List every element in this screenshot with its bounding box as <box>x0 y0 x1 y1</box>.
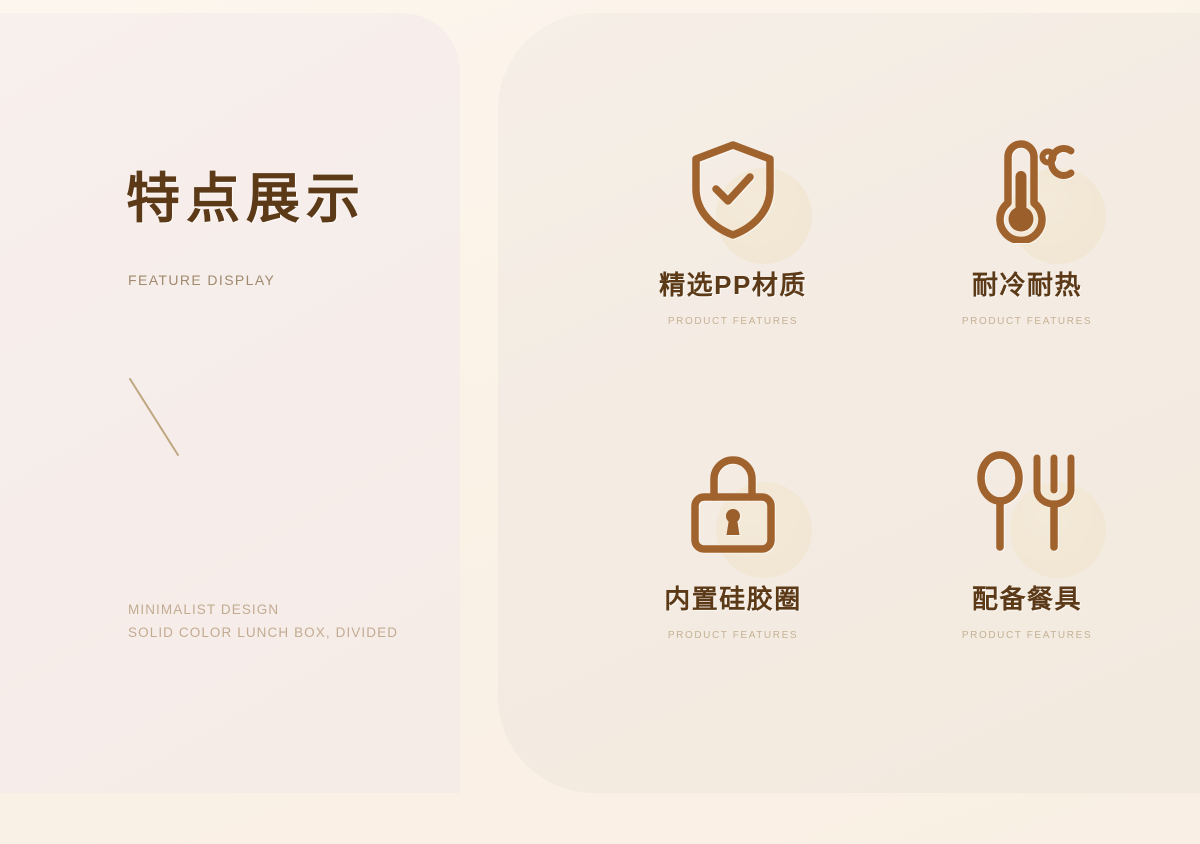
feature-title: 精选PP材质 <box>659 272 807 298</box>
feature-card-cutlery-included[interactable]: 配备餐具 PRODUCT FEATURES <box>914 434 1140 720</box>
feature-title: 内置硅胶圈 <box>664 586 802 612</box>
feature-title: 耐冷耐热 <box>972 272 1082 298</box>
feature-subtitle: PRODUCT FEATURES <box>668 316 798 327</box>
feature-grid: 精选PP材质 PRODUCT FEATURES 耐冷耐热 PRODUCT <box>620 120 1140 720</box>
feature-card-silicone-seal[interactable]: 内置硅胶圈 PRODUCT FEATURES <box>620 434 846 720</box>
feature-card-temperature-resistant[interactable]: 耐冷耐热 PRODUCT FEATURES <box>914 120 1140 406</box>
feature-title: 配备餐具 <box>972 586 1082 612</box>
page-title: 特点展示 <box>126 172 366 226</box>
feature-icon-wrap <box>962 120 1092 260</box>
left-content-block: 特点展示 FEATURE DISPLAY MINIMALIST DESIGN S… <box>126 0 456 844</box>
feature-subtitle: PRODUCT FEATURES <box>962 316 1092 327</box>
feature-display-page: 特点展示 FEATURE DISPLAY MINIMALIST DESIGN S… <box>0 0 1200 844</box>
feature-card-pp-material[interactable]: 精选PP材质 PRODUCT FEATURES <box>620 120 846 406</box>
caption-line-2: SOLID COLOR LUNCH BOX, DIVIDED <box>128 621 398 644</box>
spoon-fork-icon <box>974 450 1080 558</box>
feature-subtitle: PRODUCT FEATURES <box>962 630 1092 641</box>
diagonal-line-icon <box>126 375 186 465</box>
caption-line-1: MINIMALIST DESIGN <box>128 598 398 621</box>
page-subtitle: FEATURE DISPLAY <box>128 272 275 288</box>
feature-icon-wrap <box>668 120 798 260</box>
caption-block: MINIMALIST DESIGN SOLID COLOR LUNCH BOX,… <box>128 598 398 644</box>
feature-icon-wrap <box>962 434 1092 574</box>
thermometer-celsius-icon <box>975 137 1079 243</box>
feature-subtitle: PRODUCT FEATURES <box>668 630 798 641</box>
feature-icon-wrap <box>668 434 798 574</box>
padlock-icon <box>687 452 779 556</box>
shield-check-icon <box>687 139 779 241</box>
